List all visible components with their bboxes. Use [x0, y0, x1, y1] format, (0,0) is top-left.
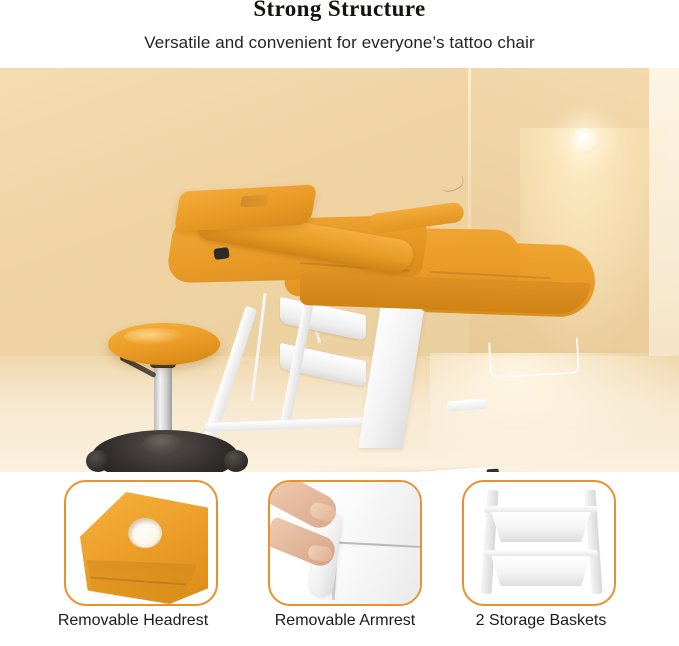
basket-rail-top — [484, 506, 598, 513]
feature-thumbnail-headrest — [64, 480, 218, 606]
page-subtitle: Versatile and convenient for everyone’s … — [0, 33, 679, 53]
page-title: Strong Structure — [0, 0, 679, 22]
storage-basket-icon-bottom — [488, 556, 594, 586]
stool-gas-lift — [154, 360, 172, 438]
storage-basket-icon-top — [488, 512, 594, 542]
feature-label-headrest: Removable Headrest — [56, 612, 210, 630]
chair-headrest-pillow — [174, 184, 318, 231]
chair-wire-hanger — [488, 338, 580, 379]
feature-baskets: 2 Storage Baskets — [462, 480, 616, 630]
brand-logo-icon — [240, 195, 268, 207]
basket-rail-bottom — [484, 550, 598, 557]
feature-headrest: Removable Headrest — [64, 480, 218, 630]
feature-label-baskets: 2 Storage Baskets — [464, 612, 618, 630]
stool-caster-right — [224, 450, 248, 472]
hero-product-image — [0, 68, 679, 472]
feature-thumbnail-armrest — [268, 480, 422, 606]
armrest-chair-lower — [336, 543, 422, 606]
wall-corner-edge — [468, 68, 471, 368]
stool-base-hub — [142, 434, 184, 456]
headrest-face-hole-icon — [128, 518, 162, 548]
chair-foot-cap-right — [487, 469, 500, 472]
feature-armrest: Removable Armrest — [268, 480, 422, 630]
feature-label-armrest: Removable Armrest — [268, 612, 422, 630]
feature-panels: Removable Headrest Removable Armrest 2 S… — [0, 480, 679, 646]
feature-thumbnail-baskets — [462, 480, 616, 606]
chair-adjust-knob-icon — [213, 247, 229, 260]
header: Strong Structure Versatile and convenien… — [0, 0, 679, 68]
sphere-light-icon — [572, 128, 598, 154]
stool-seat-highlight — [124, 328, 186, 345]
wall-light-glow — [520, 128, 670, 358]
stool-caster-left — [86, 450, 110, 472]
